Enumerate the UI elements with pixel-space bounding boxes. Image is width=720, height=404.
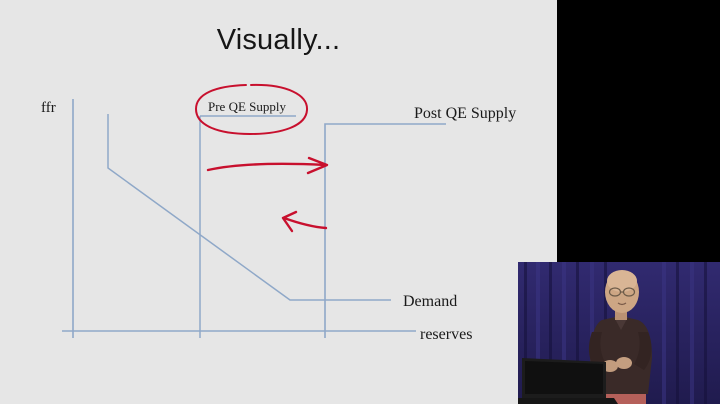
demand-curve-label: Demand [403,293,457,311]
presenter-right-hand [616,357,632,369]
annotation-arrow-left [283,212,326,231]
presenter-video-inset [518,262,720,404]
x-axis-label: reserves [420,326,472,344]
laptop-screen-inner [525,361,603,394]
laptop-base [518,398,618,404]
demand-curve-path [108,114,391,300]
video-player-frame: Visually... [0,0,720,404]
presentation-slide: Visually... [0,0,557,404]
presenter-video-image [518,262,720,404]
pre-qe-supply-label: Pre QE Supply [208,99,286,115]
annotation-arrow-right [208,158,327,173]
post-qe-supply-label: Post QE Supply [414,105,516,123]
y-axis-label: ffr [41,100,56,117]
pre-qe-supply-curve [200,116,296,338]
chart-axes [62,99,416,338]
economics-supply-demand-chart [0,0,557,404]
laptop [518,358,618,404]
demand-curve [108,114,391,300]
